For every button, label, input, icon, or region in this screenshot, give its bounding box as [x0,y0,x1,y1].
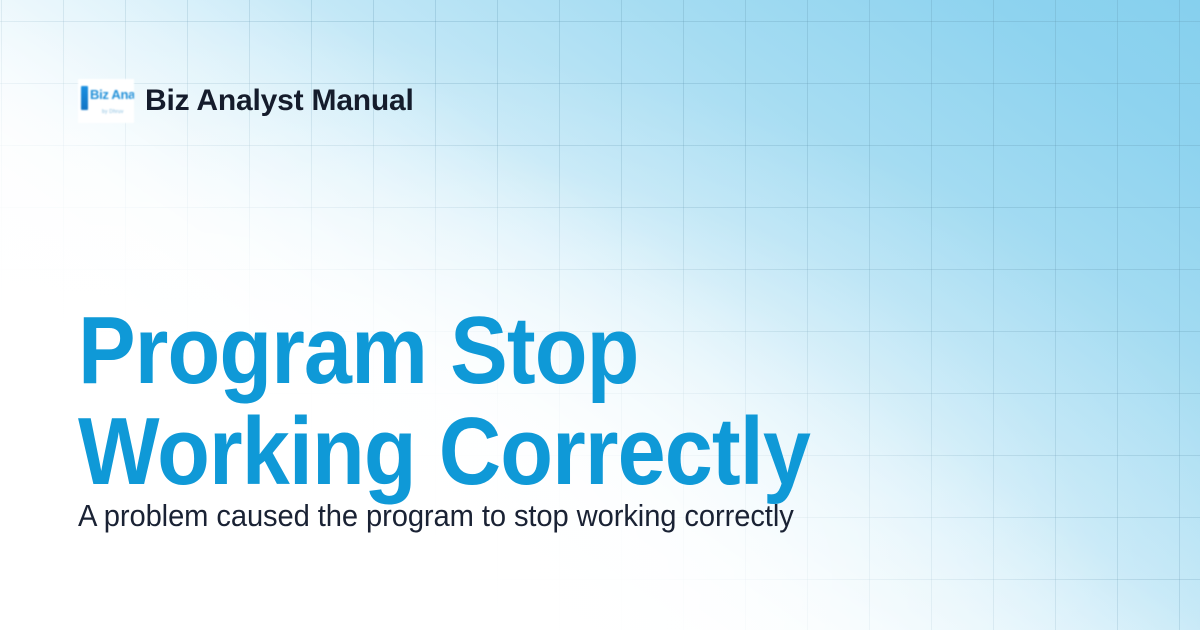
brand-title: Biz Analyst Manual [145,84,414,118]
biz-analyst-logo-icon: Biz Analyst by Dhruv [78,79,134,123]
logo-subtext: by Dhruv [102,109,124,115]
page-subtitle: A problem caused the program to stop wor… [78,497,821,535]
og-card: Biz Analyst by Dhruv Biz Analyst Manual … [0,0,1200,630]
card-content: Biz Analyst by Dhruv Biz Analyst Manual … [0,0,1200,630]
brand-header: Biz Analyst by Dhruv Biz Analyst Manual [78,78,414,124]
logo-wordmark: Biz Analyst [90,88,134,101]
page-title: Program Stop Working Correctly [78,300,942,502]
logo-bar-mark [81,86,88,110]
